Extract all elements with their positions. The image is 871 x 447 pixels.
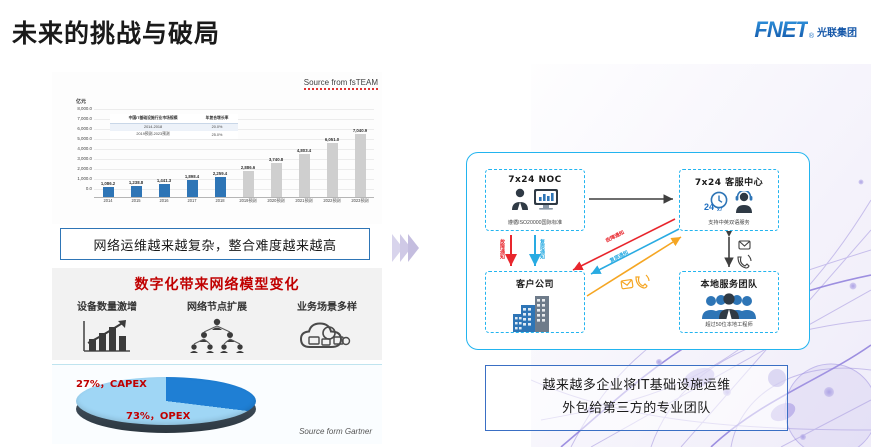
- chart-bar-value-label: 4,803.4: [297, 148, 311, 153]
- bar-chart-growth-icon: [53, 316, 162, 354]
- chart-bar-value-label: 2,886.6: [241, 165, 255, 170]
- chart-bar-value-label: 7,040.9: [353, 128, 367, 133]
- chart-bar: [131, 186, 142, 197]
- chart-y-tick: 2,000.0: [64, 166, 92, 171]
- chart-x-tick-label: 2017: [179, 198, 204, 208]
- chart-y-tick: 4,000.0: [64, 146, 92, 151]
- chart-bar: [159, 184, 170, 197]
- chart-bar-group: 2,886.6: [235, 115, 260, 197]
- model-item-label: 网络节点扩展: [163, 298, 272, 313]
- monitor-dashboard-icon: [533, 188, 559, 210]
- digital-model-items: 设备数量激增 网络节点扩展: [52, 298, 382, 354]
- chart-bar: [187, 180, 198, 197]
- chart-y-tick: 7,000.0: [64, 116, 92, 121]
- chart-x-tick-label: 2023预测: [347, 198, 372, 208]
- chart-x-tick-label: 2019预测: [235, 198, 260, 208]
- chart-bar: [243, 171, 254, 197]
- diagram-box-subtitle: 遵循ISO20000国际标准: [486, 219, 584, 226]
- diagram-box-title: 7x24 NOC: [486, 175, 584, 185]
- chart-x-tick-label: 2021预测: [291, 198, 316, 208]
- chart-bar-value-label: 1,238.8: [129, 180, 143, 185]
- transition-chevrons-icon: [392, 228, 452, 268]
- service-architecture-diagram: 故障通知 复原通知 故障通知 复原通知 7x24 NOC 遵循ISO20000国…: [466, 152, 810, 350]
- chart-y-tick: 6,000.0: [64, 126, 92, 131]
- model-item-scenarios: 业务场景多样: [273, 298, 382, 354]
- diagram-box-customer-service: 7x24 客服中心 24 x7 支持中英双语服务: [679, 169, 779, 231]
- conclusion-line-2: 外包给第三方的专业团队: [562, 398, 711, 421]
- table-row: 2014-201820.0%: [110, 123, 238, 131]
- office-buildings-icon: [511, 292, 559, 332]
- table-header-row: 中国IT基础设施行业市场规模年复合增长率: [110, 114, 238, 123]
- chart-bar-group: 4,803.4: [291, 115, 316, 197]
- left-content-column: Source from fsTEAM 亿元 8,000.07,000.06,00…: [52, 72, 382, 444]
- table-header-cell: 年复合增长率: [196, 114, 238, 123]
- chart-bar: [355, 134, 366, 197]
- arrow-label-restore-vertical: 复原通知: [539, 239, 546, 259]
- logo-company-name: 光联集团: [817, 27, 857, 41]
- local-team-icons: [680, 293, 778, 319]
- chart-bar-value-label: 2,259.4: [213, 171, 227, 176]
- team-group-icon: [701, 293, 757, 319]
- chart-bar-value-label: 1,086.2: [101, 181, 115, 186]
- chart-y-tick: 0.0: [64, 186, 92, 191]
- table-header-cell: 中国IT基础设施行业市场规模: [110, 114, 196, 123]
- table-row: 2019预测-2023预测25.0%: [110, 131, 238, 139]
- headset-agent-icon: [734, 191, 754, 213]
- chart-gridline: [94, 109, 374, 110]
- page-title: 未来的挑战与破局: [12, 14, 220, 50]
- table-cell: 25.0%: [196, 131, 238, 139]
- registered-trademark-icon: ®: [809, 33, 814, 41]
- market-size-bar-chart: Source from fsTEAM 亿元 8,000.07,000.06,00…: [52, 72, 382, 224]
- chart-bar-value-label: 1,898.4: [185, 174, 199, 179]
- chart-y-tick: 1,000.0: [64, 176, 92, 181]
- customer-service-icons: 24 x7: [680, 191, 778, 213]
- table-cell: 2019预测-2023预测: [110, 131, 196, 139]
- chart-bar: [103, 187, 114, 197]
- complexity-statement-box: 网络运维越来越复杂，整合难度越来越高: [60, 228, 370, 260]
- chart-bar: [327, 143, 338, 197]
- cloud-devices-icon: [273, 316, 382, 354]
- table-cell: 20.0%: [196, 123, 238, 131]
- capex-opex-pie-panel: 27%，CAPEX 73%，OPEX Source form Gartner: [52, 364, 382, 444]
- slide-header: 未来的挑战与破局 FNET ® 光联集团: [0, 0, 871, 64]
- chart-x-axis-labels: 201420152016201720182019预测2020预测2021预测20…: [94, 198, 374, 208]
- conclusion-statement-box: 越来越多企业将IT基础设施运维 外包给第三方的专业团队: [485, 365, 788, 431]
- chart-bar-value-label: 3,740.8: [269, 157, 283, 162]
- model-item-label: 设备数量激增: [53, 298, 162, 313]
- chart-y-tick: 8,000.0: [64, 106, 92, 111]
- diagram-box-customer-company: 客户公司: [485, 271, 585, 333]
- chart-x-tick-label: 2018: [207, 198, 232, 208]
- digital-model-title: 数字化带来网络模型变化: [52, 274, 382, 294]
- complexity-statement-text: 网络运维越来越复杂，整合难度越来越高: [93, 235, 336, 254]
- arrow-label-fault-vertical: 故障通知: [499, 239, 506, 259]
- pie-label-opex: 73%，OPEX: [126, 407, 190, 422]
- fnet-logo: FNET ® 光联集团: [754, 15, 857, 41]
- chart-x-tick-label: 2016: [151, 198, 176, 208]
- chart-bar-value-label: 6,051.0: [325, 137, 339, 142]
- diagram-box-title: 客户公司: [486, 277, 584, 290]
- chart-x-tick-label: 2020预测: [263, 198, 288, 208]
- chart-bar-value-label: 1,441.3: [157, 178, 171, 183]
- chart-y-tick: 5,000.0: [64, 136, 92, 141]
- cagr-annotation-table: 中国IT基础设施行业市场规模年复合增长率 2014-201820.0%2019预…: [110, 114, 238, 139]
- chart-bar-group: 6,051.0: [319, 115, 344, 197]
- engineer-person-icon: [511, 188, 529, 210]
- chart-y-tick: 3,000.0: [64, 156, 92, 161]
- logo-wordmark: FNET: [754, 19, 807, 41]
- pie-source-note: Source form Gartner: [299, 427, 372, 436]
- table-cell: 2014-2018: [110, 123, 196, 131]
- chart-x-tick-label: 2015: [123, 198, 148, 208]
- diagram-box-title: 7x24 客服中心: [680, 175, 778, 188]
- pie-label-capex: 27%，CAPEX: [76, 375, 147, 390]
- chart-x-tick-label: 2022预测: [319, 198, 344, 208]
- conclusion-line-1: 越来越多企业将IT基础设施运维: [542, 375, 730, 398]
- table-body: 2014-201820.0%2019预测-2023预测25.0%: [110, 123, 238, 139]
- chart-bar: [299, 154, 310, 197]
- digital-model-panel: 数字化带来网络模型变化 设备数量激增: [52, 268, 382, 360]
- chart-x-tick-label: 2014: [95, 198, 120, 208]
- diagram-box-noc: 7x24 NOC 遵循ISO20000国际标准: [485, 169, 585, 231]
- 24x7-clock-icon: 24 x7: [704, 191, 730, 213]
- chart-bar-group: 3,740.8: [263, 115, 288, 197]
- chart-bar: [271, 163, 282, 197]
- diagram-box-subtitle: 支持中英双语服务: [680, 219, 778, 226]
- svg-text:x7: x7: [717, 207, 723, 213]
- noc-icons: [486, 188, 584, 210]
- customer-company-icons: [486, 292, 584, 332]
- model-item-nodes: 网络节点扩展: [163, 298, 272, 354]
- diagram-box-title: 本地服务团队: [680, 277, 778, 290]
- chevron-right-icon: [408, 234, 419, 262]
- network-nodes-icon: [163, 316, 272, 354]
- chart-source-note: Source from fsTEAM: [304, 78, 378, 87]
- diagram-box-subtitle: 超过50位本地工程师: [680, 321, 778, 328]
- model-item-label: 业务场景多样: [273, 298, 382, 313]
- model-item-devices: 设备数量激增: [53, 298, 162, 354]
- svg-text:24: 24: [704, 202, 714, 212]
- chart-bar-group: 7,040.9: [347, 115, 372, 197]
- diagram-box-local-team: 本地服务团队 超过50位本地工程师: [679, 271, 779, 333]
- chart-bar: [215, 177, 226, 197]
